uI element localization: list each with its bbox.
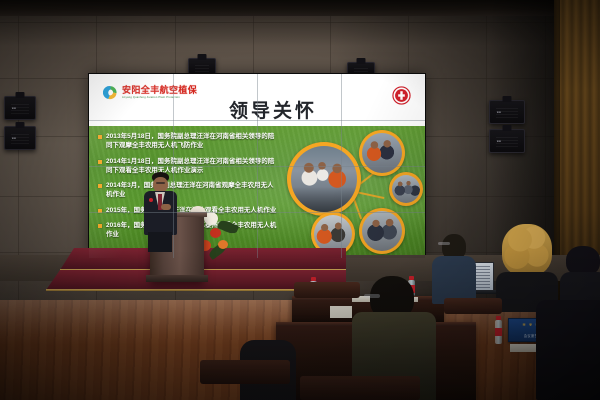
company-logo-icon [103,85,118,100]
slide-title: 领导关怀 [229,96,317,123]
logo-chinese-text: 安阳全丰航空植保 [122,86,197,95]
presenter-head [153,177,168,192]
documents [330,306,352,318]
list-item: 2014年1月18日，国务院副总理汪洋在河南省相关领导的陪同下观看全丰农用无人机… [98,157,280,176]
chair-back [444,298,502,314]
list-item [496,224,558,308]
bullet-marker-icon [98,224,102,228]
attendee-glasses-icon [438,242,450,245]
presenter-glasses-icon [156,182,165,184]
list-item: 2013年5月18日，国务院副总理汪洋在河南省相关领导的陪同下观摩全丰农用无人机… [98,132,280,151]
video-wall-display[interactable]: 安阳全丰航空植保 Anyang Quanfeng Aviation Plant … [88,73,426,259]
wall-speaker-right-lower: ■■ [489,129,525,153]
collage-photo-bottom-right [359,208,405,254]
bullet-text: 2014年1月18日，国务院副总理汪洋在河南省相关领导的陪同下观看全丰农用无人机… [106,157,280,176]
conference-hall-photo: ■■ ■■ ■■ ■■ [0,0,600,400]
bullet-marker-icon [98,184,102,188]
bullet-marker-icon [98,135,102,139]
company-logo: 安阳全丰航空植保 Anyang Quanfeng Aviation Plant … [103,85,197,100]
bullet-marker-icon [98,160,102,164]
presenter-hand [161,204,171,210]
logo-english-text: Anyang Quanfeng Aviation Plant Protectio… [122,97,197,100]
bullet-text: 2014年3月，国务院副总理汪洋在河南省观摩全丰农用无人机作业 [106,181,280,200]
leader-visit-photo-collage [285,128,421,256]
bullet-text: 2013年5月18日，国务院副总理汪洋在河南省相关领导的陪同下观摩全丰农用无人机… [106,132,280,151]
presenter-legs [148,232,172,252]
list-item: 2014年3月，国务院副总理汪洋在河南省观摩全丰农用无人机作业 [98,181,280,200]
collage-photo-right [389,172,423,206]
presenter-lapel-pin-icon [149,198,153,202]
list-item [432,234,476,304]
attendee-glasses-icon [364,294,380,298]
presenter [140,172,180,250]
chair-back [200,360,290,384]
wall-speaker-left-lower: ■■ [4,126,36,150]
wall-speaker-right-upper: ■■ [489,100,525,124]
collage-photo-top-right [359,130,405,176]
slide-header: 安阳全丰航空植保 Anyang Quanfeng Aviation Plant … [89,74,425,126]
red-circular-emblem-icon [392,86,411,105]
water-bottle [495,320,502,344]
chair-back [294,282,360,298]
chair-back [300,376,420,400]
list-item [536,300,600,400]
collage-photo-main [287,142,361,216]
wall-speaker-left-upper: ■■ [4,96,36,120]
bullet-marker-icon [98,209,102,213]
